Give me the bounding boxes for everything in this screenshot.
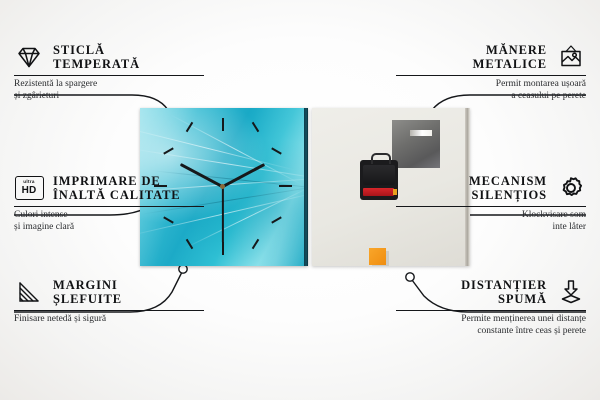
- callout-subtitle: Permite menținerea unei distanțe constan…: [396, 314, 586, 337]
- hatched-triangle-icon: [14, 277, 44, 307]
- callout-title: MĂNERE METALICE: [473, 43, 547, 71]
- callout-divider: [14, 75, 204, 76]
- clock-center-cap: [220, 184, 225, 189]
- callout-subtitle: Finisare netedă și sigură: [14, 314, 204, 326]
- foam-spacer-pad: [369, 248, 386, 265]
- arrow-down-onto-layers-icon: [556, 277, 586, 307]
- callout-subtitle: Klockvisare som inte låter: [396, 210, 586, 233]
- callout-head: STICLĂ TEMPERATĂ: [14, 42, 204, 72]
- callout-head: MECANISM SILENȚIOS: [396, 173, 586, 203]
- callout-subtitle: Permit montarea ușoară a ceasului pe per…: [396, 79, 586, 102]
- callout-title: MARGINI ȘLEFUITE: [53, 278, 122, 306]
- callout-metal-handles: MĂNERE METALICE Permit montarea ușoară a…: [396, 42, 586, 102]
- diamond-gem-icon: [14, 42, 44, 72]
- hanger-slot: [410, 130, 432, 136]
- callout-title: IMPRIMARE DE ÎNALTĂ CALITATE: [53, 174, 181, 202]
- callout-divider: [14, 206, 204, 207]
- callout-subtitle: Culori intense și imagine clară: [14, 210, 204, 233]
- callout-divider: [396, 206, 586, 207]
- callout-title: MECANISM SILENȚIOS: [469, 174, 547, 202]
- metal-hanger-plate: [392, 120, 440, 168]
- product-feature-infographic: STICLĂ TEMPERATĂ Rezistentă la spargere …: [0, 0, 600, 400]
- hour-marker: [279, 185, 292, 187]
- mechanism-body: [363, 165, 395, 185]
- callout-head: DISTANȚIER SPUMĂ: [396, 277, 586, 307]
- callout-hd-print: ultra HD IMPRIMARE DE ÎNALTĂ CALITATE Cu…: [14, 173, 204, 233]
- hd-badge-hd-label: HD: [22, 186, 37, 196]
- battery: [363, 188, 394, 196]
- mechanism-hanger-hook: [371, 153, 391, 164]
- hour-marker: [222, 118, 224, 131]
- callout-foam-spacer: DISTANȚIER SPUMĂ Permite menținerea unei…: [396, 277, 586, 337]
- callout-divider: [396, 310, 586, 311]
- gear-icon: [556, 173, 586, 203]
- callout-divider: [14, 310, 204, 311]
- hd-badge: ultra HD: [15, 176, 44, 200]
- callout-polished-edges: MARGINI ȘLEFUITE Finisare netedă și sigu…: [14, 277, 204, 326]
- framed-picture-hanging-icon: [556, 42, 586, 72]
- callout-tempered-glass: STICLĂ TEMPERATĂ Rezistentă la spargere …: [14, 42, 204, 102]
- connector-node-polished-edges: [179, 265, 187, 273]
- ultra-hd-badge-icon: ultra HD: [14, 173, 44, 203]
- callout-subtitle: Rezistentă la spargere și zgârieturi: [14, 79, 204, 102]
- callout-head: ultra HD IMPRIMARE DE ÎNALTĂ CALITATE: [14, 173, 204, 203]
- callout-title: DISTANȚIER SPUMĂ: [461, 278, 547, 306]
- clock-mechanism: [360, 160, 398, 200]
- second-hand: [222, 187, 224, 243]
- glass-edge: [304, 108, 308, 266]
- callout-divider: [396, 75, 586, 76]
- callout-head: MARGINI ȘLEFUITE: [14, 277, 204, 307]
- hour-marker: [222, 242, 224, 255]
- callout-silent-mechanism: MECANISM SILENȚIOS Klockvisare som inte …: [396, 173, 586, 233]
- callout-title: STICLĂ TEMPERATĂ: [53, 43, 140, 71]
- callout-head: MĂNERE METALICE: [396, 42, 586, 72]
